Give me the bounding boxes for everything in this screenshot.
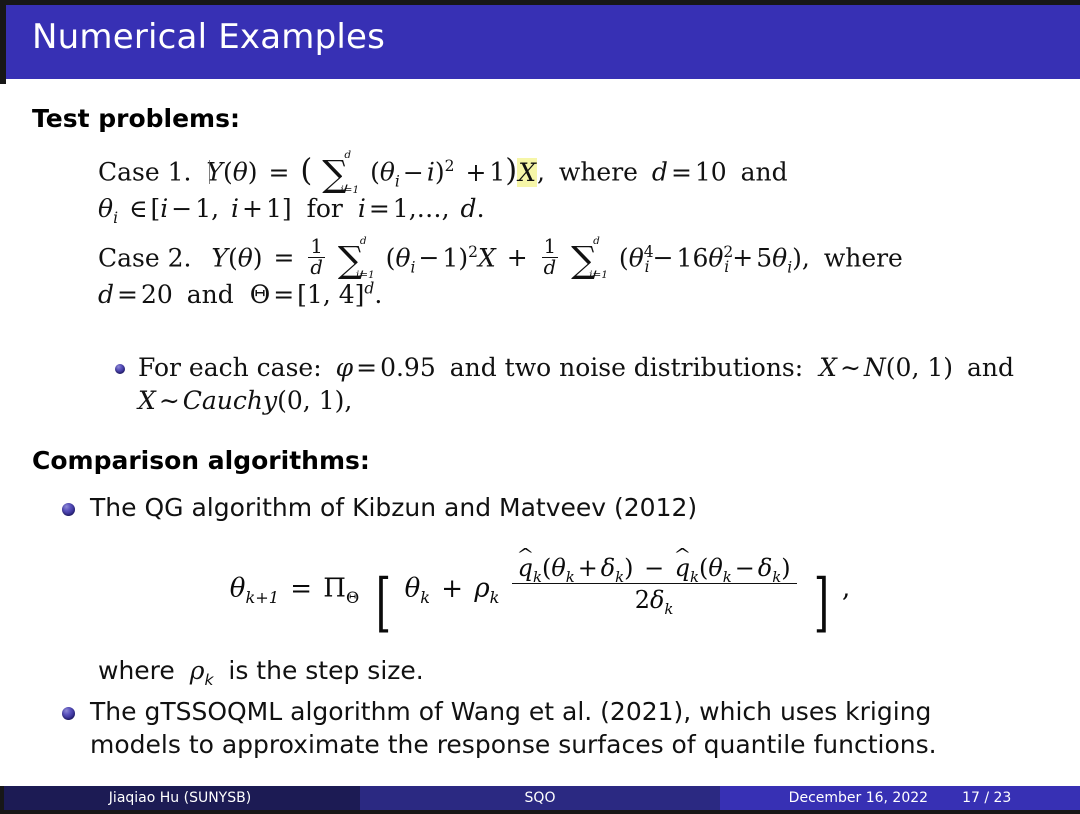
qg-algorithm-text: The QG algorithm of Kibzun and Matveev (… [90,492,697,525]
case1-label: Case 1. [98,158,191,187]
case2-fraction-one-over-d-2: 1 d [542,237,558,278]
noise-distribution-text: For each case: φ=0.95 and two noise dist… [138,352,1014,417]
test-problems-heading: Test problems: [32,104,240,133]
slide-title-bar: Numerical Examples [6,5,1080,79]
case1-line1: Case 1. Y(θ) = ( ∑ d i=1 (θi−i)2 +1)X, w… [98,152,788,195]
footer-page-number: 17 / 23 [962,790,1011,806]
slide-content: Test problems: Case 1. Y(θ) = ( ∑ d i=1 … [0,84,1080,784]
right-bracket: ] [814,566,829,640]
text-caret-artifact [209,160,210,184]
case2-label: Case 2. [98,243,191,272]
slide-title: Numerical Examples [32,17,385,57]
bullet-marker-icon [62,503,75,516]
case2-summation-1: ∑ d i=1 [338,238,364,281]
case2-line1: Case 2. Y(θ) = 1 d ∑ d i=1 (θi−1)2X + 1 … [98,237,903,281]
bullet-marker-icon [62,707,75,720]
case1-summation: ∑ d i=1 [322,152,348,195]
case1-line2: θi ∈[i−1, i+1] for i=1,…, d. [98,194,485,223]
step-size-note: where ρk is the step size. [98,656,424,685]
qg-algorithm-bullet: The QG algorithm of Kibzun and Matveev (… [62,492,1062,525]
qg-update-equation: θk+1 = ΠΘ [ θk + ρk qk(θk+δk) − qk(θk−δk… [0,554,1080,640]
case1-theta: θ [233,158,248,187]
footer-author: Jiaqiao Hu (SUNYSB) [0,786,360,810]
noise-distribution-bullet: For each case: φ=0.95 and two noise dist… [115,352,1055,417]
q-hat-2: q [675,554,690,583]
left-bracket: [ [376,566,391,640]
footer-right-group: December 16, 2022 17 / 23 [720,786,1080,810]
footer-date: December 16, 2022 [789,790,928,806]
q-hat-1: q [518,554,533,583]
footer-venue: SQO [360,786,720,810]
gtssoqml-algorithm-bullet: The gTSSOQML algorithm of Wang et al. (2… [62,696,1067,761]
slide-bottom-border [0,810,1080,814]
case2-line2: d=20 and Θ=[1, 4]d. [98,280,382,309]
gtssoqml-algorithm-text: The gTSSOQML algorithm of Wang et al. (2… [90,696,937,761]
bullet-marker-icon [115,364,125,374]
comparison-algorithms-heading: Comparison algorithms: [32,446,370,475]
case2-fraction-one-over-d: 1 d [308,237,324,278]
slide-footer: Jiaqiao Hu (SUNYSB) SQO December 16, 202… [0,786,1080,810]
case2-summation-2: ∑ d i=1 [571,238,597,281]
finite-difference-fraction: qk(θk+δk) − qk(θk−δk) 2δk [512,554,797,615]
highlighted-noise-variable: X [517,158,537,187]
slide-root: Numerical Examples Test problems: Case 1… [0,0,1080,814]
